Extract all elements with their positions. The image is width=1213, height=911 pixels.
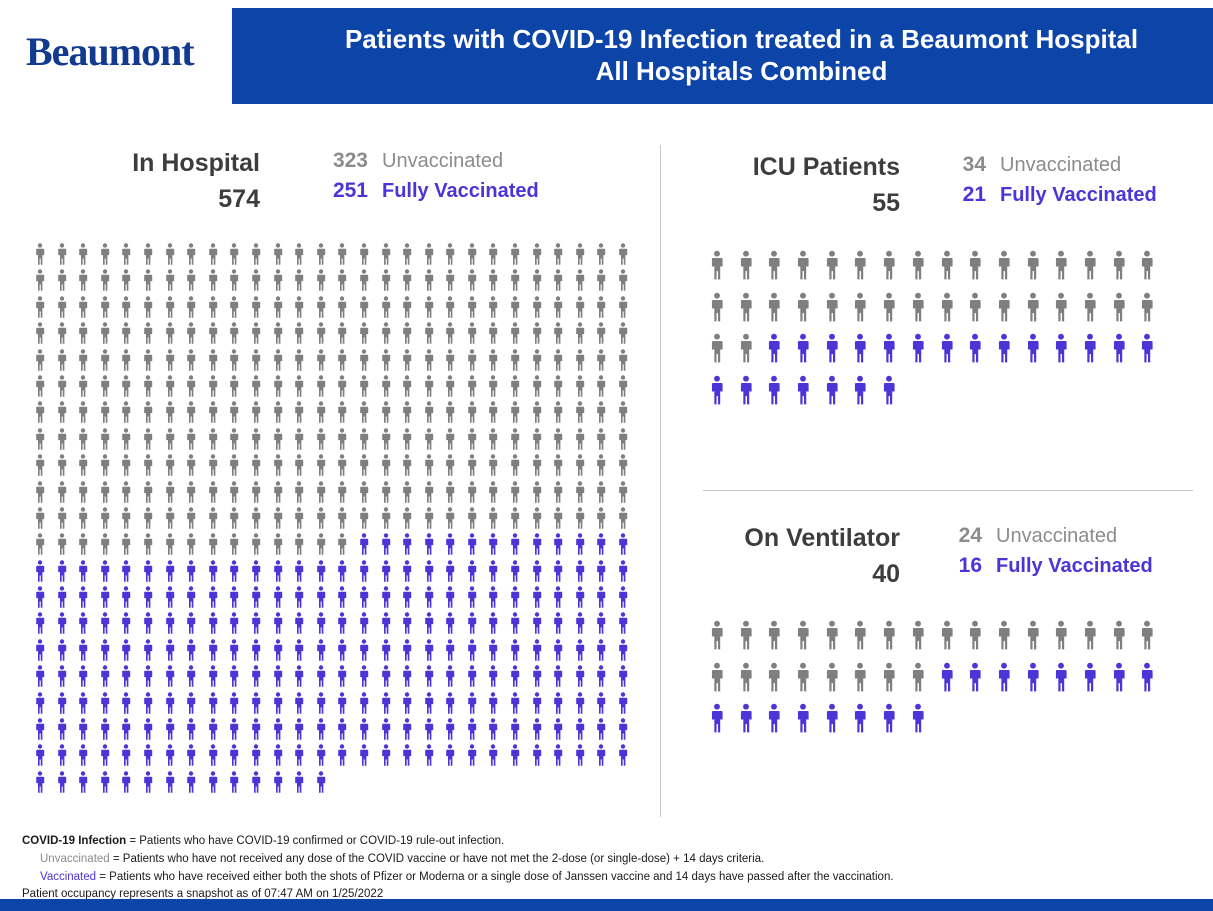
person-icon-fully-vaccinated	[380, 665, 402, 691]
person-icon-unvaccinated	[401, 481, 423, 507]
person-icon-fully-vaccinated	[336, 744, 358, 770]
person-icon-unvaccinated	[444, 243, 466, 269]
person-icon-unvaccinated	[250, 428, 272, 454]
legend-label-unvaccinated: Unvaccinated	[996, 522, 1117, 550]
person-icon-fully-vaccinated	[250, 692, 272, 718]
person-icon-unvaccinated	[34, 401, 56, 427]
section-total-ventilator: 40	[690, 557, 900, 593]
person-icon-unvaccinated	[336, 243, 358, 269]
person-icon-fully-vaccinated	[293, 639, 315, 665]
person-icon-fully-vaccinated	[824, 333, 853, 375]
person-icon-unvaccinated	[423, 349, 445, 375]
person-icon-fully-vaccinated	[142, 560, 164, 586]
person-icon-unvaccinated	[466, 481, 488, 507]
person-icon-unvaccinated	[967, 250, 996, 292]
person-icon-unvaccinated	[766, 620, 795, 662]
person-icon-unvaccinated	[509, 322, 531, 348]
person-icon-fully-vaccinated	[56, 560, 78, 586]
person-icon-unvaccinated	[531, 401, 553, 427]
person-icon-unvaccinated	[380, 481, 402, 507]
person-icon-unvaccinated	[709, 333, 738, 375]
person-icon-unvaccinated	[595, 507, 617, 533]
person-icon-fully-vaccinated	[164, 692, 186, 718]
person-icon-unvaccinated	[738, 620, 767, 662]
person-icon-fully-vaccinated	[77, 560, 99, 586]
person-icon-fully-vaccinated	[164, 718, 186, 744]
person-icon-fully-vaccinated	[272, 692, 294, 718]
person-icon-unvaccinated	[466, 401, 488, 427]
person-icon-unvaccinated	[795, 662, 824, 704]
person-icon-unvaccinated	[466, 243, 488, 269]
person-icon-fully-vaccinated	[881, 703, 910, 745]
person-icon-fully-vaccinated	[444, 692, 466, 718]
person-icon-unvaccinated	[56, 322, 78, 348]
beaumont-logo: Beaumont	[26, 28, 194, 75]
person-icon-unvaccinated	[228, 507, 250, 533]
person-icon-unvaccinated	[574, 296, 596, 322]
person-icon-unvaccinated	[509, 428, 531, 454]
person-icon-unvaccinated	[509, 401, 531, 427]
person-icon-fully-vaccinated	[272, 718, 294, 744]
person-icon-unvaccinated	[766, 662, 795, 704]
person-icon-fully-vaccinated	[358, 744, 380, 770]
person-icon-fully-vaccinated	[272, 771, 294, 797]
person-icon-fully-vaccinated	[315, 560, 337, 586]
person-icon-unvaccinated	[293, 454, 315, 480]
person-icon-fully-vaccinated	[228, 692, 250, 718]
person-icon-fully-vaccinated	[709, 703, 738, 745]
person-icon-fully-vaccinated	[1139, 333, 1168, 375]
person-icon-fully-vaccinated	[250, 665, 272, 691]
person-icon-unvaccinated	[487, 243, 509, 269]
person-icon-unvaccinated	[34, 322, 56, 348]
person-icon-fully-vaccinated	[185, 612, 207, 638]
person-icon-unvaccinated	[423, 296, 445, 322]
person-icon-fully-vaccinated	[487, 612, 509, 638]
person-icon-fully-vaccinated	[1025, 333, 1054, 375]
person-icon-fully-vaccinated	[336, 612, 358, 638]
person-icon-fully-vaccinated	[228, 586, 250, 612]
person-icon-fully-vaccinated	[358, 639, 380, 665]
person-icon-fully-vaccinated	[56, 692, 78, 718]
person-icon-fully-vaccinated	[185, 639, 207, 665]
person-icon-fully-vaccinated	[272, 560, 294, 586]
person-icon-unvaccinated	[315, 269, 337, 295]
person-icon-unvaccinated	[34, 428, 56, 454]
person-icon-unvaccinated	[99, 507, 121, 533]
person-icon-unvaccinated	[423, 454, 445, 480]
person-icon-unvaccinated	[315, 401, 337, 427]
person-icon-unvaccinated	[293, 401, 315, 427]
person-icon-fully-vaccinated	[466, 612, 488, 638]
person-icon-unvaccinated	[423, 401, 445, 427]
person-icon-unvaccinated	[574, 375, 596, 401]
person-icon-unvaccinated	[380, 428, 402, 454]
person-icon-unvaccinated	[509, 296, 531, 322]
person-icon-fully-vaccinated	[272, 586, 294, 612]
person-icon-unvaccinated	[617, 507, 639, 533]
person-icon-fully-vaccinated	[185, 586, 207, 612]
person-icon-fully-vaccinated	[99, 665, 121, 691]
person-icon-unvaccinated	[738, 292, 767, 334]
person-icon-unvaccinated	[250, 401, 272, 427]
person-icon-unvaccinated	[939, 292, 968, 334]
person-icon-fully-vaccinated	[380, 692, 402, 718]
person-icon-fully-vaccinated	[250, 560, 272, 586]
person-icon-fully-vaccinated	[228, 771, 250, 797]
legend-row-fully-vaccinated: 21 Fully Vaccinated	[952, 180, 1157, 210]
person-icon-unvaccinated	[272, 454, 294, 480]
person-icon-unvaccinated	[574, 269, 596, 295]
person-icon-unvaccinated	[358, 454, 380, 480]
person-icon-unvaccinated	[552, 296, 574, 322]
person-icon-unvaccinated	[315, 243, 337, 269]
person-icon-fully-vaccinated	[1111, 333, 1140, 375]
person-icon-fully-vaccinated	[531, 560, 553, 586]
person-icon-unvaccinated	[164, 428, 186, 454]
person-icon-unvaccinated	[1139, 620, 1168, 662]
person-icon-fully-vaccinated	[939, 333, 968, 375]
person-icon-fully-vaccinated	[552, 718, 574, 744]
person-icon-unvaccinated	[709, 250, 738, 292]
person-icon-fully-vaccinated	[164, 586, 186, 612]
person-icon-unvaccinated	[77, 375, 99, 401]
legend-label-fully-vaccinated: Fully Vaccinated	[382, 177, 539, 205]
person-icon-fully-vaccinated	[120, 586, 142, 612]
person-icon-fully-vaccinated	[34, 771, 56, 797]
person-icon-unvaccinated	[967, 620, 996, 662]
legend-count-unvaccinated: 24	[948, 521, 982, 551]
person-icon-fully-vaccinated	[380, 744, 402, 770]
person-icon-unvaccinated	[185, 428, 207, 454]
person-icon-fully-vaccinated	[552, 744, 574, 770]
person-icon-fully-vaccinated	[1082, 662, 1111, 704]
person-icon-unvaccinated	[910, 292, 939, 334]
person-icon-unvaccinated	[552, 428, 574, 454]
person-icon-unvaccinated	[293, 507, 315, 533]
person-icon-unvaccinated	[120, 296, 142, 322]
footnote-text-covid: = Patients who have COVID-19 confirmed o…	[126, 835, 504, 847]
person-icon-unvaccinated	[56, 507, 78, 533]
person-icon-unvaccinated	[401, 454, 423, 480]
person-icon-unvaccinated	[423, 507, 445, 533]
person-icon-unvaccinated	[336, 322, 358, 348]
person-icon-fully-vaccinated	[595, 560, 617, 586]
person-icon-unvaccinated	[56, 349, 78, 375]
person-icon-fully-vaccinated	[120, 771, 142, 797]
person-icon-unvaccinated	[1053, 250, 1082, 292]
person-icon-unvaccinated	[617, 269, 639, 295]
person-icon-unvaccinated	[852, 292, 881, 334]
person-icon-fully-vaccinated	[120, 639, 142, 665]
person-icon-fully-vaccinated	[250, 718, 272, 744]
person-icon-fully-vaccinated	[77, 665, 99, 691]
person-icon-fully-vaccinated	[509, 665, 531, 691]
person-icon-unvaccinated	[595, 269, 617, 295]
person-icon-fully-vaccinated	[552, 560, 574, 586]
person-icon-unvaccinated	[380, 507, 402, 533]
person-icon-fully-vaccinated	[423, 612, 445, 638]
person-icon-unvaccinated	[77, 401, 99, 427]
person-icon-fully-vaccinated	[250, 612, 272, 638]
person-icon-unvaccinated	[120, 322, 142, 348]
person-icon-unvaccinated	[99, 533, 121, 559]
person-icon-fully-vaccinated	[444, 639, 466, 665]
person-icon-fully-vaccinated	[444, 612, 466, 638]
person-icon-fully-vaccinated	[766, 703, 795, 745]
person-icon-unvaccinated	[34, 349, 56, 375]
legend-count-fully-vaccinated: 16	[948, 551, 982, 581]
person-icon-unvaccinated	[509, 507, 531, 533]
person-icon-fully-vaccinated	[487, 718, 509, 744]
person-icon-unvaccinated	[380, 269, 402, 295]
person-icon-unvaccinated	[228, 322, 250, 348]
person-icon-fully-vaccinated	[423, 560, 445, 586]
person-icon-unvaccinated	[824, 662, 853, 704]
person-icon-unvaccinated	[207, 454, 229, 480]
person-icon-fully-vaccinated	[766, 333, 795, 375]
person-icon-unvaccinated	[423, 243, 445, 269]
person-icon-unvaccinated	[531, 375, 553, 401]
person-icon-fully-vaccinated	[423, 639, 445, 665]
person-icon-unvaccinated	[466, 507, 488, 533]
person-icon-unvaccinated	[272, 269, 294, 295]
person-icon-unvaccinated	[380, 296, 402, 322]
person-icon-fully-vaccinated	[401, 560, 423, 586]
person-icon-unvaccinated	[120, 428, 142, 454]
person-icon-fully-vaccinated	[617, 744, 639, 770]
person-icon-unvaccinated	[574, 507, 596, 533]
person-icon-fully-vaccinated	[910, 703, 939, 745]
person-icon-fully-vaccinated	[77, 586, 99, 612]
person-icon-unvaccinated	[531, 428, 553, 454]
person-icon-unvaccinated	[552, 375, 574, 401]
person-icon-fully-vaccinated	[617, 560, 639, 586]
person-icon-fully-vaccinated	[595, 533, 617, 559]
person-icon-fully-vaccinated	[1053, 662, 1082, 704]
person-icon-unvaccinated	[272, 375, 294, 401]
legend-count-unvaccinated: 323	[320, 146, 368, 176]
person-icon-unvaccinated	[207, 349, 229, 375]
person-icon-fully-vaccinated	[336, 692, 358, 718]
person-icon-unvaccinated	[487, 296, 509, 322]
person-icon-fully-vaccinated	[336, 560, 358, 586]
person-icon-unvaccinated	[939, 250, 968, 292]
person-icon-unvaccinated	[185, 322, 207, 348]
person-icon-unvaccinated	[617, 322, 639, 348]
person-icon-unvaccinated	[293, 375, 315, 401]
person-icon-unvaccinated	[228, 296, 250, 322]
person-icon-fully-vaccinated	[358, 586, 380, 612]
person-icon-unvaccinated	[99, 269, 121, 295]
person-icon-unvaccinated	[1025, 250, 1054, 292]
person-icon-unvaccinated	[142, 401, 164, 427]
person-icon-unvaccinated	[996, 250, 1025, 292]
person-icon-unvaccinated	[939, 620, 968, 662]
person-icon-unvaccinated	[595, 375, 617, 401]
person-icon-unvaccinated	[272, 401, 294, 427]
person-icon-unvaccinated	[444, 349, 466, 375]
person-icon-fully-vaccinated	[77, 639, 99, 665]
person-icon-fully-vaccinated	[120, 665, 142, 691]
person-icon-fully-vaccinated	[207, 586, 229, 612]
legend-label-unvaccinated: Unvaccinated	[1000, 151, 1121, 179]
person-icon-unvaccinated	[120, 454, 142, 480]
person-icon-fully-vaccinated	[552, 612, 574, 638]
person-icon-unvaccinated	[466, 322, 488, 348]
person-icon-unvaccinated	[336, 296, 358, 322]
person-icon-fully-vaccinated	[142, 612, 164, 638]
person-icon-unvaccinated	[185, 507, 207, 533]
person-icon-unvaccinated	[910, 620, 939, 662]
person-icon-unvaccinated	[738, 333, 767, 375]
person-icon-fully-vaccinated	[401, 612, 423, 638]
person-icon-fully-vaccinated	[824, 375, 853, 417]
person-icon-unvaccinated	[315, 375, 337, 401]
bottom-accent-strip	[0, 899, 1213, 911]
person-icon-unvaccinated	[207, 322, 229, 348]
person-icon-fully-vaccinated	[487, 639, 509, 665]
person-icon-fully-vaccinated	[228, 665, 250, 691]
person-icon-fully-vaccinated	[34, 744, 56, 770]
person-icon-fully-vaccinated	[77, 692, 99, 718]
person-icon-unvaccinated	[272, 428, 294, 454]
person-icon-fully-vaccinated	[466, 639, 488, 665]
person-icon-fully-vaccinated	[315, 718, 337, 744]
person-icon-fully-vaccinated	[207, 665, 229, 691]
person-icon-unvaccinated	[77, 269, 99, 295]
person-icon-unvaccinated	[466, 269, 488, 295]
person-icon-fully-vaccinated	[401, 718, 423, 744]
person-icon-fully-vaccinated	[315, 639, 337, 665]
person-icon-fully-vaccinated	[56, 744, 78, 770]
person-icon-fully-vaccinated	[142, 718, 164, 744]
person-icon-unvaccinated	[164, 375, 186, 401]
person-icon-unvaccinated	[207, 296, 229, 322]
person-icon-unvaccinated	[552, 454, 574, 480]
person-icon-unvaccinated	[315, 322, 337, 348]
person-icon-fully-vaccinated	[77, 718, 99, 744]
person-icon-unvaccinated	[423, 481, 445, 507]
person-icon-fully-vaccinated	[228, 744, 250, 770]
person-icon-unvaccinated	[1139, 292, 1168, 334]
person-icon-unvaccinated	[272, 481, 294, 507]
person-icon-unvaccinated	[336, 428, 358, 454]
person-icon-unvaccinated	[120, 269, 142, 295]
person-icon-fully-vaccinated	[120, 560, 142, 586]
person-icon-unvaccinated	[401, 243, 423, 269]
person-icon-fully-vaccinated	[531, 692, 553, 718]
person-icon-fully-vaccinated	[401, 639, 423, 665]
footnote-line-2: Unvaccinated = Patients who have not rec…	[22, 851, 1192, 869]
person-icon-unvaccinated	[996, 292, 1025, 334]
person-icon-unvaccinated	[401, 269, 423, 295]
person-icon-fully-vaccinated	[423, 744, 445, 770]
person-icon-fully-vaccinated	[272, 665, 294, 691]
person-icon-fully-vaccinated	[56, 665, 78, 691]
person-icon-fully-vaccinated	[120, 718, 142, 744]
person-icon-unvaccinated	[228, 454, 250, 480]
person-icon-unvaccinated	[509, 269, 531, 295]
person-icon-fully-vaccinated	[552, 692, 574, 718]
person-icon-unvaccinated	[164, 296, 186, 322]
person-icon-unvaccinated	[99, 454, 121, 480]
person-icon-unvaccinated	[552, 401, 574, 427]
person-icon-unvaccinated	[228, 269, 250, 295]
person-icon-unvaccinated	[487, 401, 509, 427]
person-icon-unvaccinated	[336, 533, 358, 559]
person-icon-fully-vaccinated	[709, 375, 738, 417]
person-icon-fully-vaccinated	[401, 586, 423, 612]
person-icon-fully-vaccinated	[380, 612, 402, 638]
person-icon-fully-vaccinated	[56, 718, 78, 744]
person-icon-fully-vaccinated	[423, 692, 445, 718]
person-icon-unvaccinated	[910, 250, 939, 292]
person-icon-fully-vaccinated	[380, 586, 402, 612]
person-icon-fully-vaccinated	[617, 665, 639, 691]
person-icon-unvaccinated	[552, 243, 574, 269]
person-icon-fully-vaccinated	[185, 560, 207, 586]
person-icon-fully-vaccinated	[120, 612, 142, 638]
person-icon-unvaccinated	[120, 349, 142, 375]
person-icon-fully-vaccinated	[185, 665, 207, 691]
vertical-divider	[660, 145, 661, 817]
person-icon-unvaccinated	[185, 401, 207, 427]
person-icon-fully-vaccinated	[293, 692, 315, 718]
person-icon-fully-vaccinated	[99, 718, 121, 744]
person-icon-unvaccinated	[466, 296, 488, 322]
person-icon-fully-vaccinated	[910, 333, 939, 375]
person-icon-fully-vaccinated	[444, 586, 466, 612]
section-header-ventilator: On Ventilator 40 24 Unvaccinated 16 Full…	[690, 521, 1200, 592]
person-icon-unvaccinated	[824, 250, 853, 292]
person-icon-unvaccinated	[1025, 620, 1054, 662]
person-icon-fully-vaccinated	[1025, 662, 1054, 704]
person-icon-unvaccinated	[164, 349, 186, 375]
person-icon-unvaccinated	[228, 349, 250, 375]
person-icon-fully-vaccinated	[852, 333, 881, 375]
person-icon-fully-vaccinated	[509, 639, 531, 665]
section-header-icu: ICU Patients 55 34 Unvaccinated 21 Fully…	[700, 150, 1200, 221]
person-icon-fully-vaccinated	[207, 639, 229, 665]
person-icon-unvaccinated	[185, 243, 207, 269]
person-icon-unvaccinated	[487, 481, 509, 507]
person-icon-unvaccinated	[164, 481, 186, 507]
person-icon-unvaccinated	[164, 507, 186, 533]
person-icon-unvaccinated	[207, 507, 229, 533]
person-icon-fully-vaccinated	[185, 771, 207, 797]
person-icon-unvaccinated	[881, 250, 910, 292]
person-icon-fully-vaccinated	[358, 533, 380, 559]
person-icon-unvaccinated	[185, 296, 207, 322]
person-icon-fully-vaccinated	[99, 586, 121, 612]
person-icon-unvaccinated	[595, 401, 617, 427]
person-icon-unvaccinated	[250, 454, 272, 480]
person-icon-unvaccinated	[709, 292, 738, 334]
person-icon-unvaccinated	[444, 507, 466, 533]
person-icon-fully-vaccinated	[120, 744, 142, 770]
person-icon-unvaccinated	[1025, 292, 1054, 334]
person-icon-unvaccinated	[423, 322, 445, 348]
person-icon-fully-vaccinated	[34, 718, 56, 744]
person-icon-fully-vaccinated	[939, 662, 968, 704]
person-icon-unvaccinated	[709, 620, 738, 662]
person-icon-unvaccinated	[552, 481, 574, 507]
person-icon-unvaccinated	[34, 533, 56, 559]
footnote-term-covid: COVID-19 Infection	[22, 835, 126, 847]
person-icon-unvaccinated	[293, 296, 315, 322]
person-icon-fully-vaccinated	[574, 639, 596, 665]
